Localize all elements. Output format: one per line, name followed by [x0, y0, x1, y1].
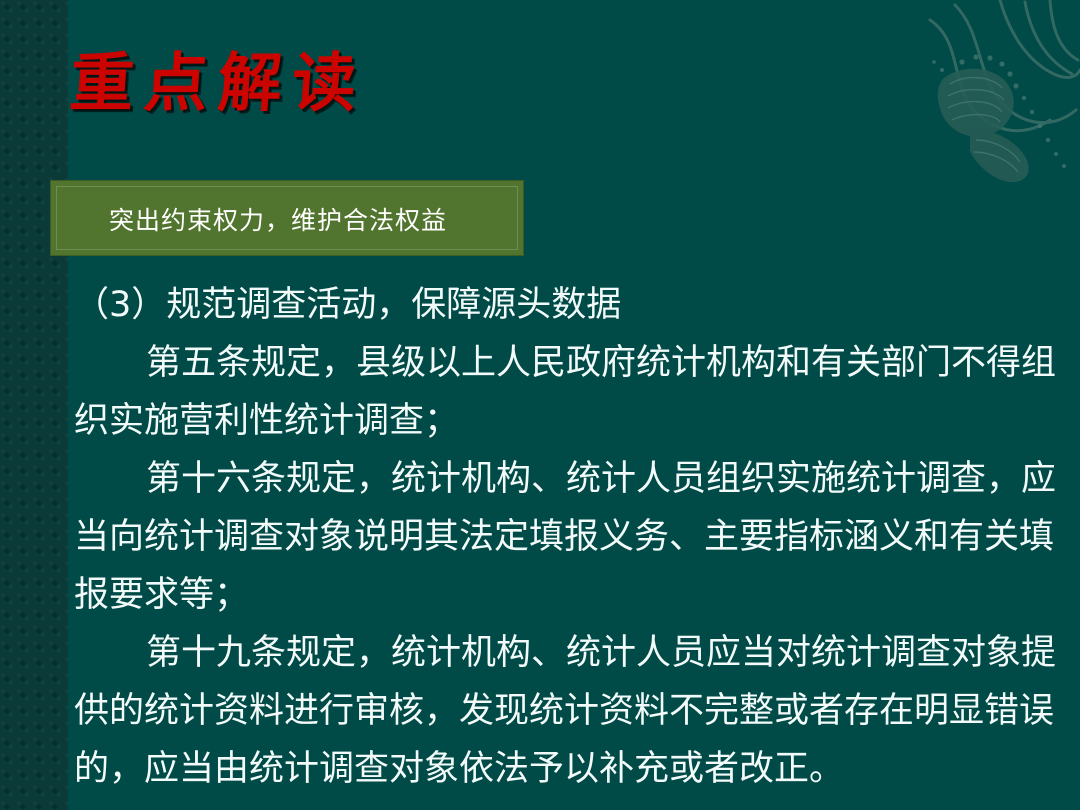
dragon-flourish-ornament — [900, 0, 1080, 200]
body-paragraph-article-16: 第十六条规定，统计机构、统计人员组织实施统计调查，应当向统计调查对象说明其法定填… — [74, 450, 1074, 624]
callout-text: 突出约束权力，维护合法权益 — [109, 181, 447, 257]
slide-body: （3）规范调查活动，保障源头数据 第五条规定，县级以上人民政府统计机构和有关部门… — [74, 276, 1074, 798]
presentation-slide: 重点解读 突出约束权力，维护合法权益 （3）规范调查活动，保障源头数据 第五条规… — [0, 0, 1080, 810]
body-paragraph-article-19: 第十九条规定，统计机构、统计人员应当对统计调查对象提供的统计资料进行审核，发现统… — [74, 624, 1074, 798]
body-paragraph-article-5: 第五条规定，县级以上人民政府统计机构和有关部门不得组织实施营利性统计调查； — [74, 334, 1074, 450]
slide-title: 重点解读 — [68, 52, 368, 116]
left-decorative-strip — [0, 0, 68, 810]
body-paragraph-heading: （3）规范调查活动，保障源头数据 — [74, 276, 1074, 334]
callout-box: 突出约束权力，维护合法权益 — [50, 180, 524, 256]
